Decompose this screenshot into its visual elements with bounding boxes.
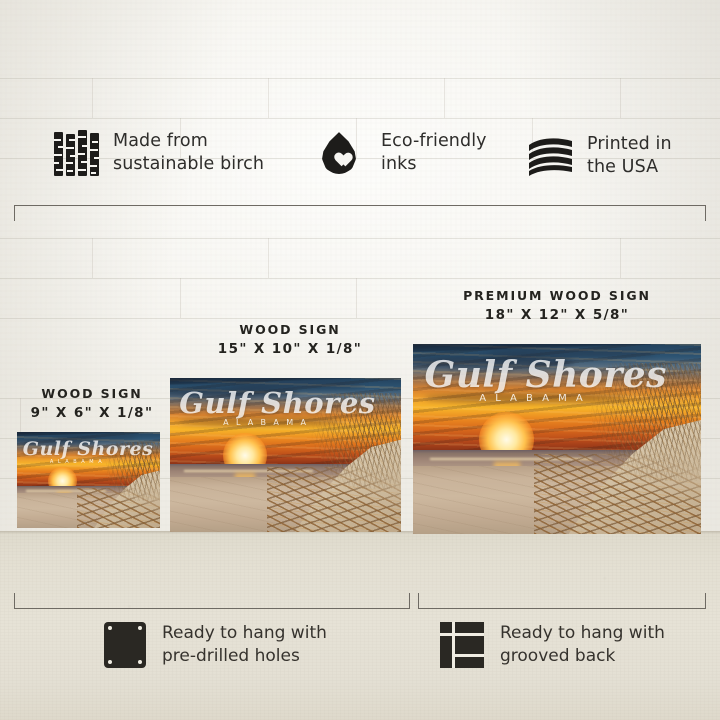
- product-label-large: PREMIUM WOOD SIGN 18" X 12" X 5/8": [452, 286, 662, 326]
- product-sign-small[interactable]: Gulf Shores A L A B A M A: [17, 432, 160, 528]
- feature-label: Printed in the USA: [587, 133, 672, 179]
- feature-label: Ready to hang with grooved back: [500, 622, 665, 668]
- water-drop-heart-icon: [322, 130, 368, 176]
- feature-label: Eco-friendly inks: [381, 130, 487, 176]
- product-listing-image: Made from sustainable birch Eco-friendly…: [0, 0, 720, 720]
- birch-bark-icon: [54, 130, 100, 176]
- top-divider-bracket: [14, 205, 706, 222]
- usa-flag-icon: [528, 136, 574, 176]
- product-dimensions: 9" X 6" X 1/8": [16, 403, 168, 424]
- feature-printed-in-the-usa: Printed in the USA: [528, 133, 672, 179]
- feature-ready-to-hang-pre-drilled-holes: Ready to hang with pre-drilled holes: [104, 622, 327, 668]
- product-label-medium: WOOD SIGN 15" X 10" X 1/8": [200, 320, 380, 360]
- product-dimensions: 18" X 12" X 5/8": [452, 305, 662, 326]
- feature-made-from-sustainable-birch: Made from sustainable birch: [54, 130, 264, 176]
- product-label-small: WOOD SIGN 9" X 6" X 1/8": [16, 384, 168, 424]
- product-name: PREMIUM WOOD SIGN: [452, 286, 662, 305]
- pre-drilled-holes-icon: [104, 622, 146, 668]
- bottom-divider-bracket-right: [418, 592, 706, 609]
- product-sign-medium[interactable]: Gulf Shores A L A B A M A: [170, 378, 401, 532]
- product-name: WOOD SIGN: [200, 320, 380, 339]
- product-dimensions: 15" X 10" X 1/8": [200, 339, 380, 360]
- feature-eco-friendly-inks: Eco-friendly inks: [322, 130, 487, 176]
- feature-ready-to-hang-grooved-back: Ready to hang with grooved back: [440, 622, 665, 668]
- feature-label: Made from sustainable birch: [113, 130, 264, 176]
- feature-label: Ready to hang with pre-drilled holes: [162, 622, 327, 668]
- bottom-divider-bracket-left: [14, 592, 410, 609]
- product-name: WOOD SIGN: [16, 384, 168, 403]
- grooved-back-icon: [440, 622, 484, 668]
- product-sign-large[interactable]: Gulf Shores A L A B A M A: [413, 344, 701, 534]
